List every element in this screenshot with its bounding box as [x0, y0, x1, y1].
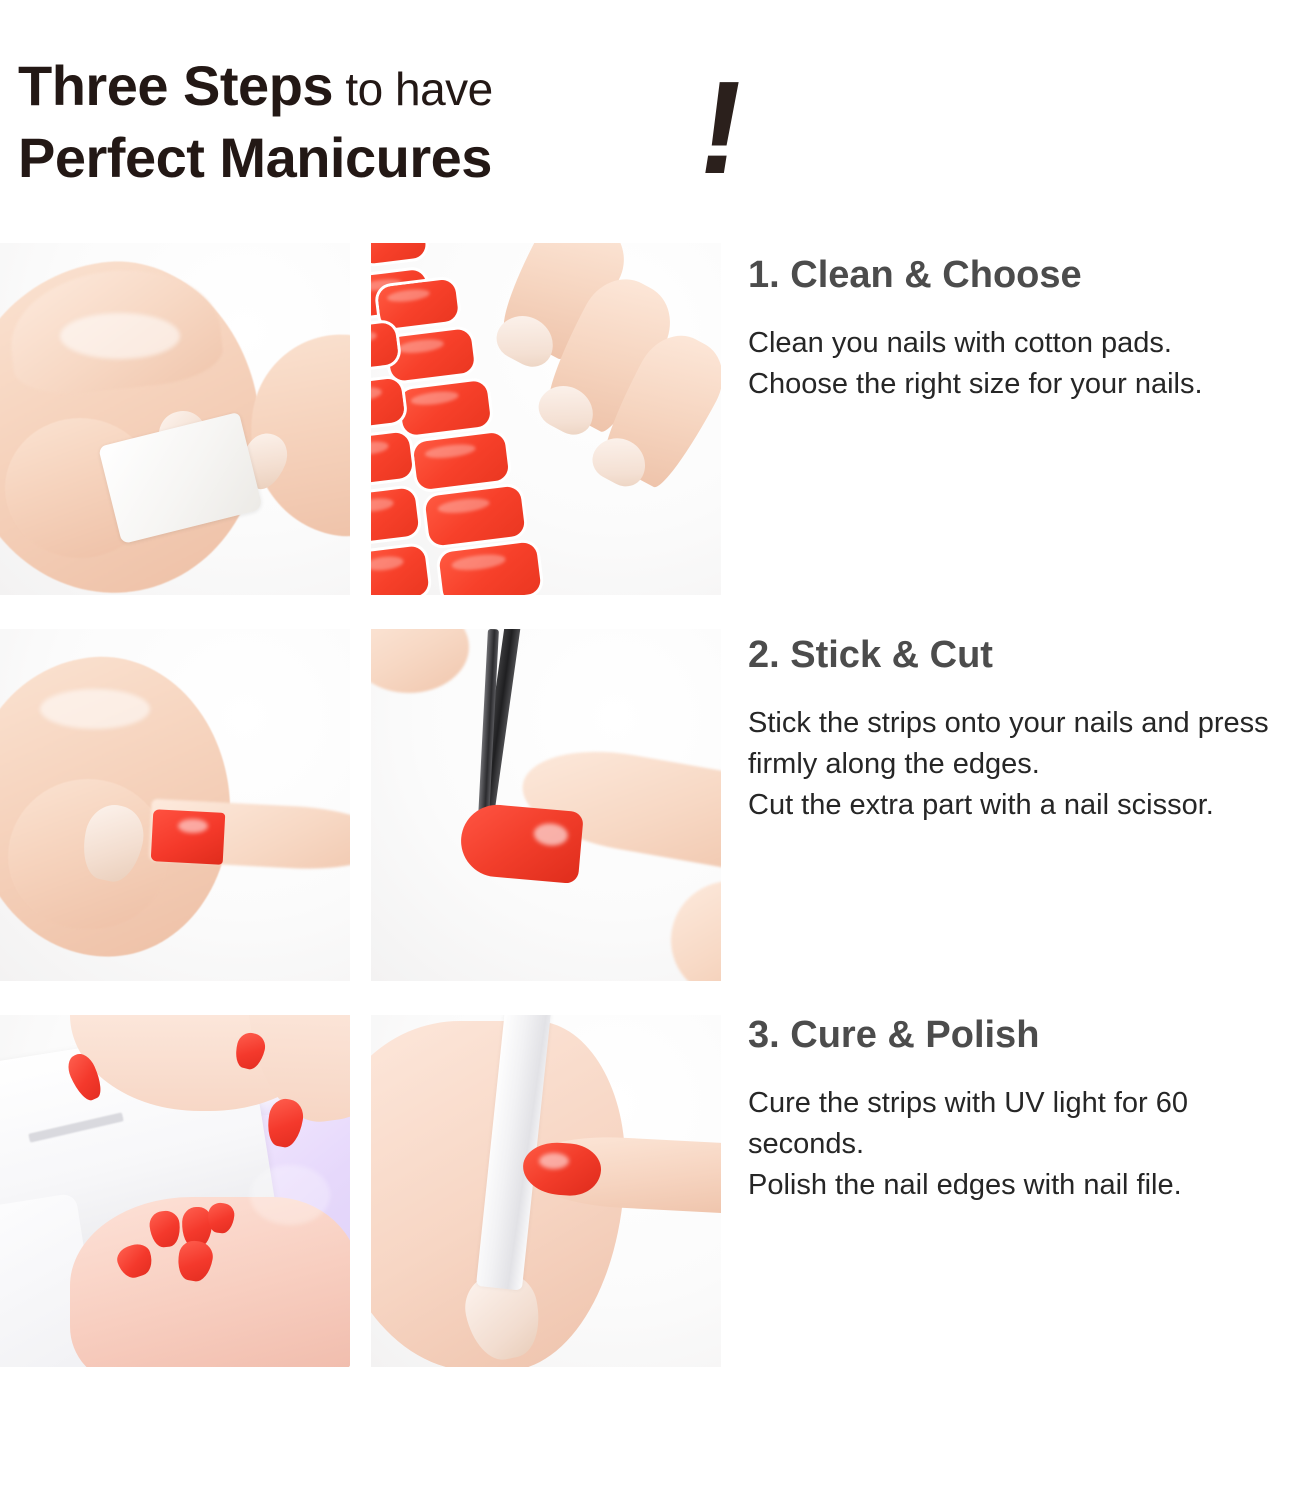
- red-nail-strip: [151, 809, 226, 865]
- step-1-body: Clean you nails with cotton pads. Choose…: [748, 323, 1300, 405]
- title-line-1: Three Steps to have: [18, 58, 493, 114]
- step-1-title: 1. Clean & Choose: [748, 255, 1300, 297]
- step-2-title: 2. Stick & Cut: [748, 635, 1300, 677]
- photo-cut-excess-with-scissors: [371, 629, 721, 981]
- title-regular-1: to have: [333, 63, 493, 115]
- title-line-2: Perfect Manicures: [18, 130, 492, 186]
- title-bold-2: Perfect Manicures: [18, 126, 492, 189]
- title-bold-1: Three Steps: [18, 54, 333, 117]
- step-3-title: 3. Cure & Polish: [748, 1015, 1300, 1057]
- photo-stick-strip-on-nail: [0, 629, 350, 981]
- step-3-body: Cure the strips with UV light for 60 sec…: [748, 1083, 1300, 1207]
- step-1: 1. Clean & Choose Clean you nails with c…: [748, 255, 1300, 405]
- photo-nail-strip-sheet: [371, 243, 721, 595]
- photo-grid: [0, 243, 731, 1367]
- step-3: 3. Cure & Polish Cure the strips with UV…: [748, 1015, 1300, 1206]
- photo-polish-edge-with-nail-file: [371, 1015, 721, 1367]
- step-2: 2. Stick & Cut Stick the strips onto you…: [748, 635, 1300, 826]
- photo-clean-with-cotton-pad: [0, 243, 350, 595]
- photo-cure-under-uv-lamp: [0, 1015, 350, 1367]
- step-2-body: Stick the strips onto your nails and pre…: [748, 703, 1300, 827]
